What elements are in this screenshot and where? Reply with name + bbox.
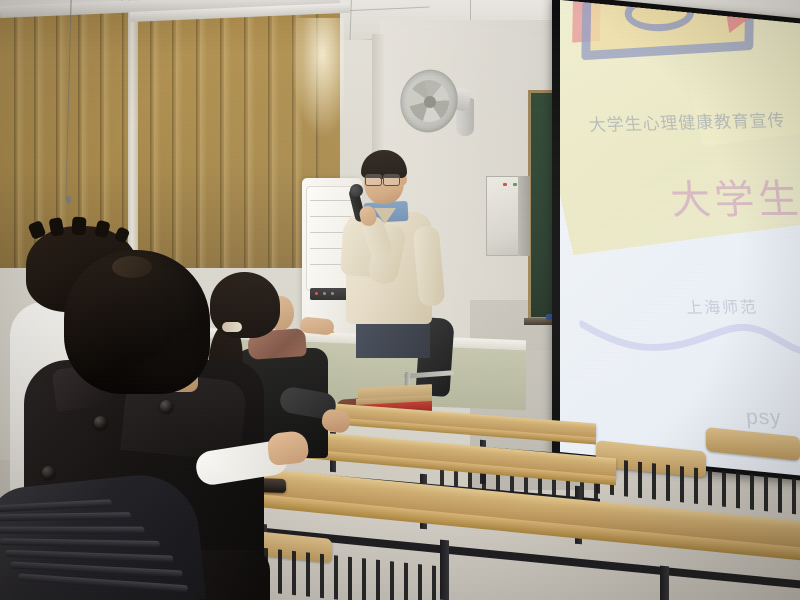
- projection-screen: 大学生心理健康教育宣传 大学生 上海师范 psy: [560, 0, 800, 476]
- hair-part: [112, 256, 152, 278]
- slide-title: 大学生: [667, 167, 800, 226]
- eyeglasses-icon: [365, 174, 382, 186]
- window-light-glow: [290, 18, 344, 138]
- slide-subtitle: 大学生心理健康教育宣传: [587, 106, 787, 136]
- coat-button: [94, 416, 107, 429]
- fan-hub: [424, 96, 436, 108]
- coat-button: [160, 400, 173, 413]
- coat-button: [42, 466, 55, 479]
- presenter: [320, 150, 470, 350]
- status-led-green: [513, 183, 517, 186]
- eyeglasses-icon: [383, 174, 400, 186]
- status-led-red: [503, 183, 507, 186]
- slide-wave-graphic: [577, 302, 800, 364]
- fan-pull-cord-knob[interactable]: [66, 196, 71, 204]
- eyeglasses-bridge: [380, 178, 384, 179]
- presenter-trousers: [356, 318, 430, 358]
- slide-footer-text: psy: [745, 406, 783, 430]
- desk-leg: [660, 566, 669, 600]
- classroom-photo: 大学生心理健康教育宣传 大学生 上海师范 psy: [0, 0, 800, 600]
- panel-side-strip: [518, 176, 530, 256]
- presenter-right-arm: [413, 225, 446, 307]
- wall-fan[interactable]: [400, 70, 470, 150]
- leather-fringe-bag[interactable]: [0, 469, 206, 600]
- student-hand: [266, 430, 309, 466]
